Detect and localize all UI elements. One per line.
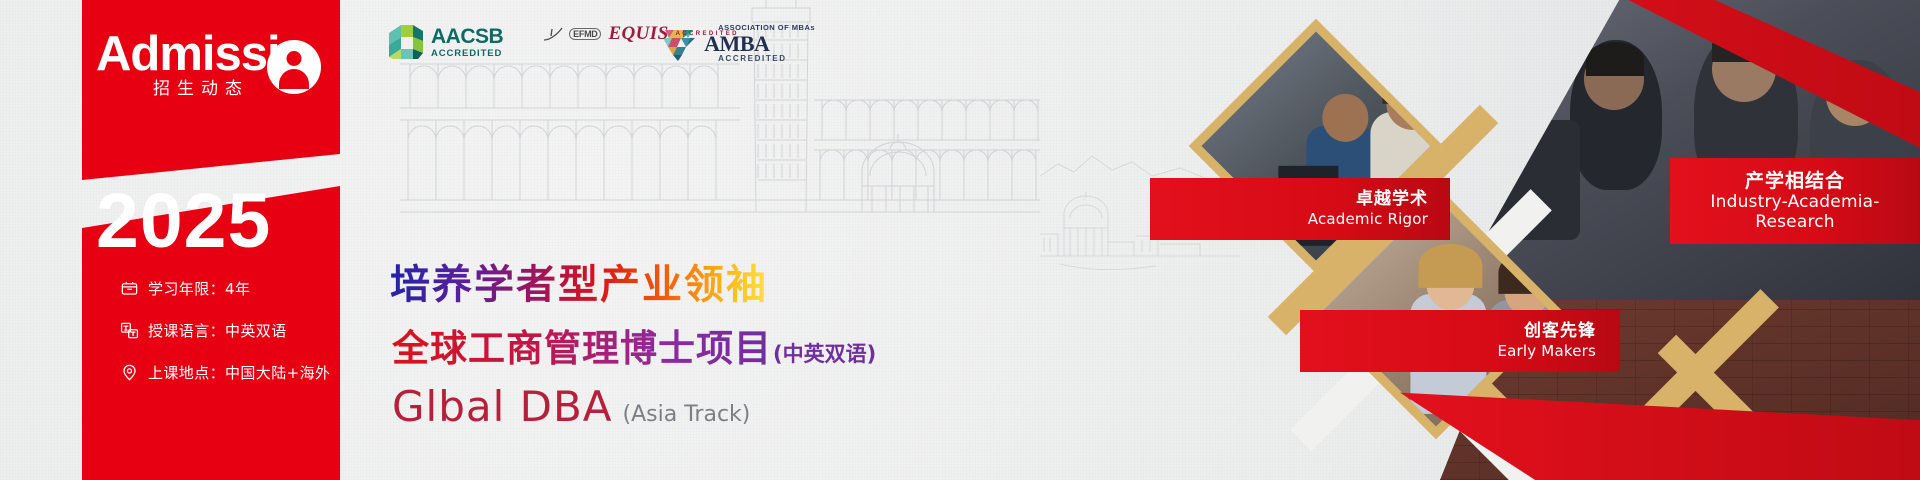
feature-label-industry-cn: 产学相结合 — [1745, 170, 1845, 194]
logo-wordmark: Admissi — [96, 30, 280, 79]
aacsb-logo: AACSB ACCREDITED — [388, 24, 503, 60]
office-meeting-photo — [1450, 0, 1920, 300]
amba-text: ASSOCIATION OF MBAs AMBA ACCREDITED — [704, 24, 815, 63]
equis-logo: EFMD EQUIS ACCREDITED — [543, 24, 621, 45]
efmd-swoosh-icon — [543, 27, 565, 42]
aacsb-name: AACSB — [431, 26, 503, 47]
feature-label-industry: 产学相结合 Industry-Academia-Research — [1670, 158, 1920, 244]
info-item-language-label: 授课语言：中英双语 — [148, 320, 287, 341]
feature-label-makers-en: Early Makers — [1497, 342, 1596, 361]
feature-label-makers: 创客先锋 Early Makers — [1300, 310, 1620, 372]
feature-label-academic-cn: 卓越学术 — [1356, 189, 1428, 210]
amba-logo: ASSOCIATION OF MBAs AMBA ACCREDITED — [661, 24, 815, 63]
language-icon — [120, 321, 139, 340]
program-info-list: 学习年限：4年 授课语言：中英双语 — [120, 277, 330, 403]
equis-name: EQUIS — [608, 24, 668, 45]
headline-track: (Asia Track) — [623, 402, 751, 427]
info-item-location-label: 上课地点：中国大陆+海外 — [148, 362, 330, 383]
headline-program-sub: (中英双语) — [773, 338, 876, 368]
info-item-language: 授课语言：中英双语 — [120, 319, 330, 341]
photo-collage: 卓越学术 Academic Rigor 产学相结合 Industry-Acade… — [1120, 0, 1920, 480]
accreditation-logos: AACSB ACCREDITED EFMD EQUIS ACCREDITED — [388, 24, 815, 63]
headline-english: Glbal DBA (Asia Track) — [392, 382, 750, 431]
efmd-label: EFMD — [569, 28, 601, 40]
admission-logo: Admissi 招生动态 — [96, 30, 346, 110]
admission-banner: Admissi 招生动态 2025 学习年限：4年 — [0, 0, 1920, 480]
info-item-duration-label: 学习年限：4年 — [148, 278, 250, 299]
year-label: 2025 — [96, 183, 271, 260]
left-red-panel: Admissi 招生动态 2025 学习年限：4年 — [0, 0, 420, 480]
feature-label-academic: 卓越学术 Academic Rigor — [1150, 178, 1450, 240]
aacsb-mark-icon — [388, 24, 424, 60]
location-pin-icon — [120, 363, 139, 382]
info-item-duration: 学习年限：4年 — [120, 277, 330, 299]
logo-chinese-label: 招生动态 — [153, 74, 249, 99]
headline-dba: Glbal DBA — [392, 382, 613, 431]
amba-sub: ACCREDITED — [718, 55, 815, 63]
equis-sub: ACCREDITED — [676, 31, 739, 37]
efmd-row: EFMD — [543, 26, 601, 42]
headline-tagline: 培养学者型产业领袖 — [390, 252, 768, 310]
headline-program: 全球工商管理博士项目 (中英双语) — [392, 318, 876, 372]
headline-program-main: 全球工商管理博士项目 — [392, 318, 772, 372]
aacsb-text: AACSB ACCREDITED — [431, 26, 503, 59]
calendar-icon — [120, 279, 139, 298]
feature-label-makers-cn: 创客先锋 — [1524, 321, 1596, 342]
feature-label-academic-en: Academic Rigor — [1308, 210, 1428, 229]
feature-label-industry-en: Industry-Academia-Research — [1682, 193, 1908, 232]
aacsb-sub: ACCREDITED — [431, 49, 503, 59]
person-circle-icon — [267, 40, 321, 94]
info-item-location: 上课地点：中国大陆+海外 — [120, 361, 330, 383]
